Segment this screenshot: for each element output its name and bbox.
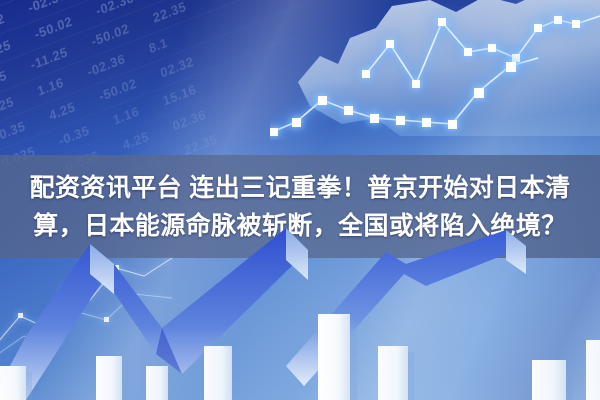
glow-polyline-upper — [366, 16, 600, 84]
bar-group — [0, 314, 600, 400]
banner-image: 21.0845.024.3610.02-02.36-11.2545.024.36… — [0, 0, 600, 400]
glowing-line-chart — [270, 0, 600, 140]
headline-line-1: 配资资讯平台 连出三记重拳！普京开始对日本清 — [30, 169, 571, 207]
white-bar-chart — [0, 280, 600, 400]
